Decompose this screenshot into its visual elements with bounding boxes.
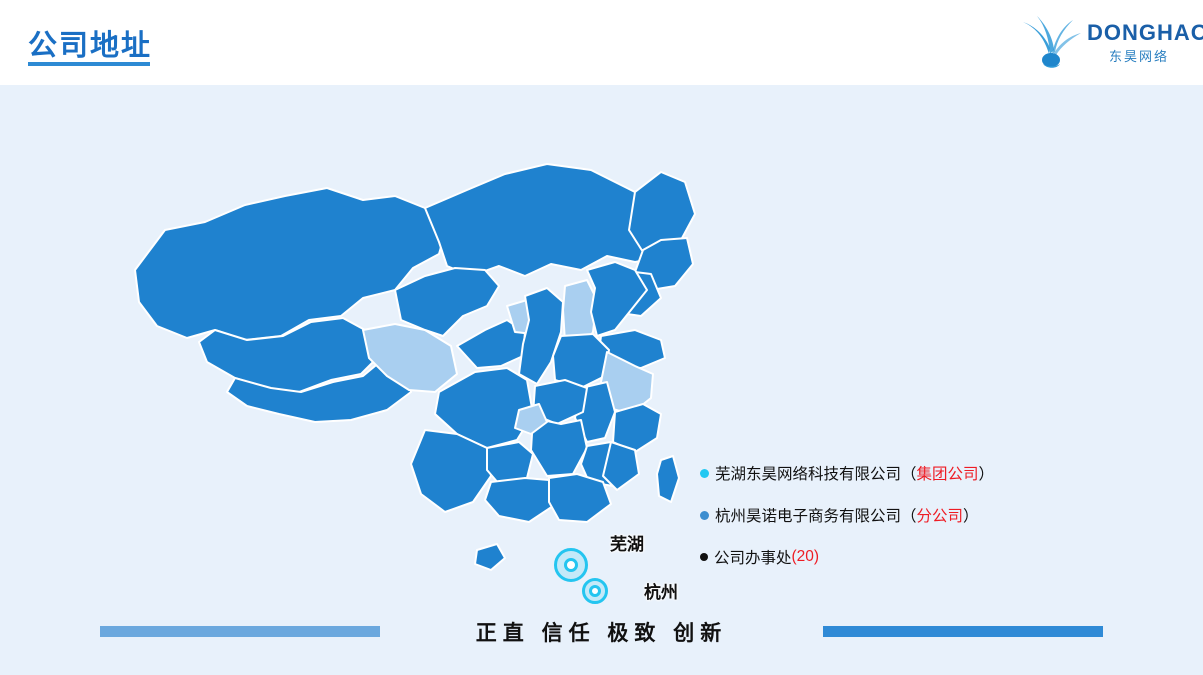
city-label-hangzhou: 杭州 xyxy=(644,578,678,603)
legend-dot-icon xyxy=(700,469,709,478)
logo-brand-en: DONGHAO xyxy=(1087,20,1203,46)
legend-suffix: ） xyxy=(979,462,995,484)
legend-item-offices: 公司办事处 (20) xyxy=(700,546,1100,568)
legend-text: 芜湖东昊网络科技有限公司（ xyxy=(715,462,917,484)
marker-wuhu-core xyxy=(564,558,578,572)
legend-text: 杭州昊诺电子商务有限公司（ xyxy=(715,504,917,526)
city-label-wuhu: 芜湖 xyxy=(610,530,644,555)
legend-highlight: 分公司 xyxy=(917,504,964,526)
company-logo: DONGHAO 东昊网络 xyxy=(1015,10,1185,72)
legend-suffix: ） xyxy=(963,504,979,526)
legend-dot-icon xyxy=(700,553,708,561)
title-underline xyxy=(28,62,150,66)
legend-item-branch-company: 杭州昊诺电子商务有限公司（ 分公司 ） xyxy=(700,504,1100,526)
legend-highlight: 集团公司 xyxy=(917,462,979,484)
slide: 公司地址 DONGHAO 东昊网络 xyxy=(0,0,1203,675)
page-title: 公司地址 xyxy=(28,22,152,64)
logo-brand-cn: 东昊网络 xyxy=(1109,46,1169,65)
marker-hangzhou-core xyxy=(589,585,601,597)
legend-item-group-company: 芜湖东昊网络科技有限公司（ 集团公司 ） xyxy=(700,462,1100,484)
legend-text: 公司办事处 xyxy=(714,546,792,568)
legend-dot-icon xyxy=(700,511,709,520)
footer-slogan: 正直 信任 极致 创新 xyxy=(0,617,1203,647)
logo-fan-icon xyxy=(1015,14,1085,75)
legend-highlight: (20) xyxy=(792,548,820,566)
china-map: 芜湖 杭州 xyxy=(95,130,715,600)
legend: 芜湖东昊网络科技有限公司（ 集团公司 ） 杭州昊诺电子商务有限公司（ 分公司 ）… xyxy=(700,462,1100,588)
slide-header: 公司地址 DONGHAO 东昊网络 xyxy=(0,0,1203,85)
